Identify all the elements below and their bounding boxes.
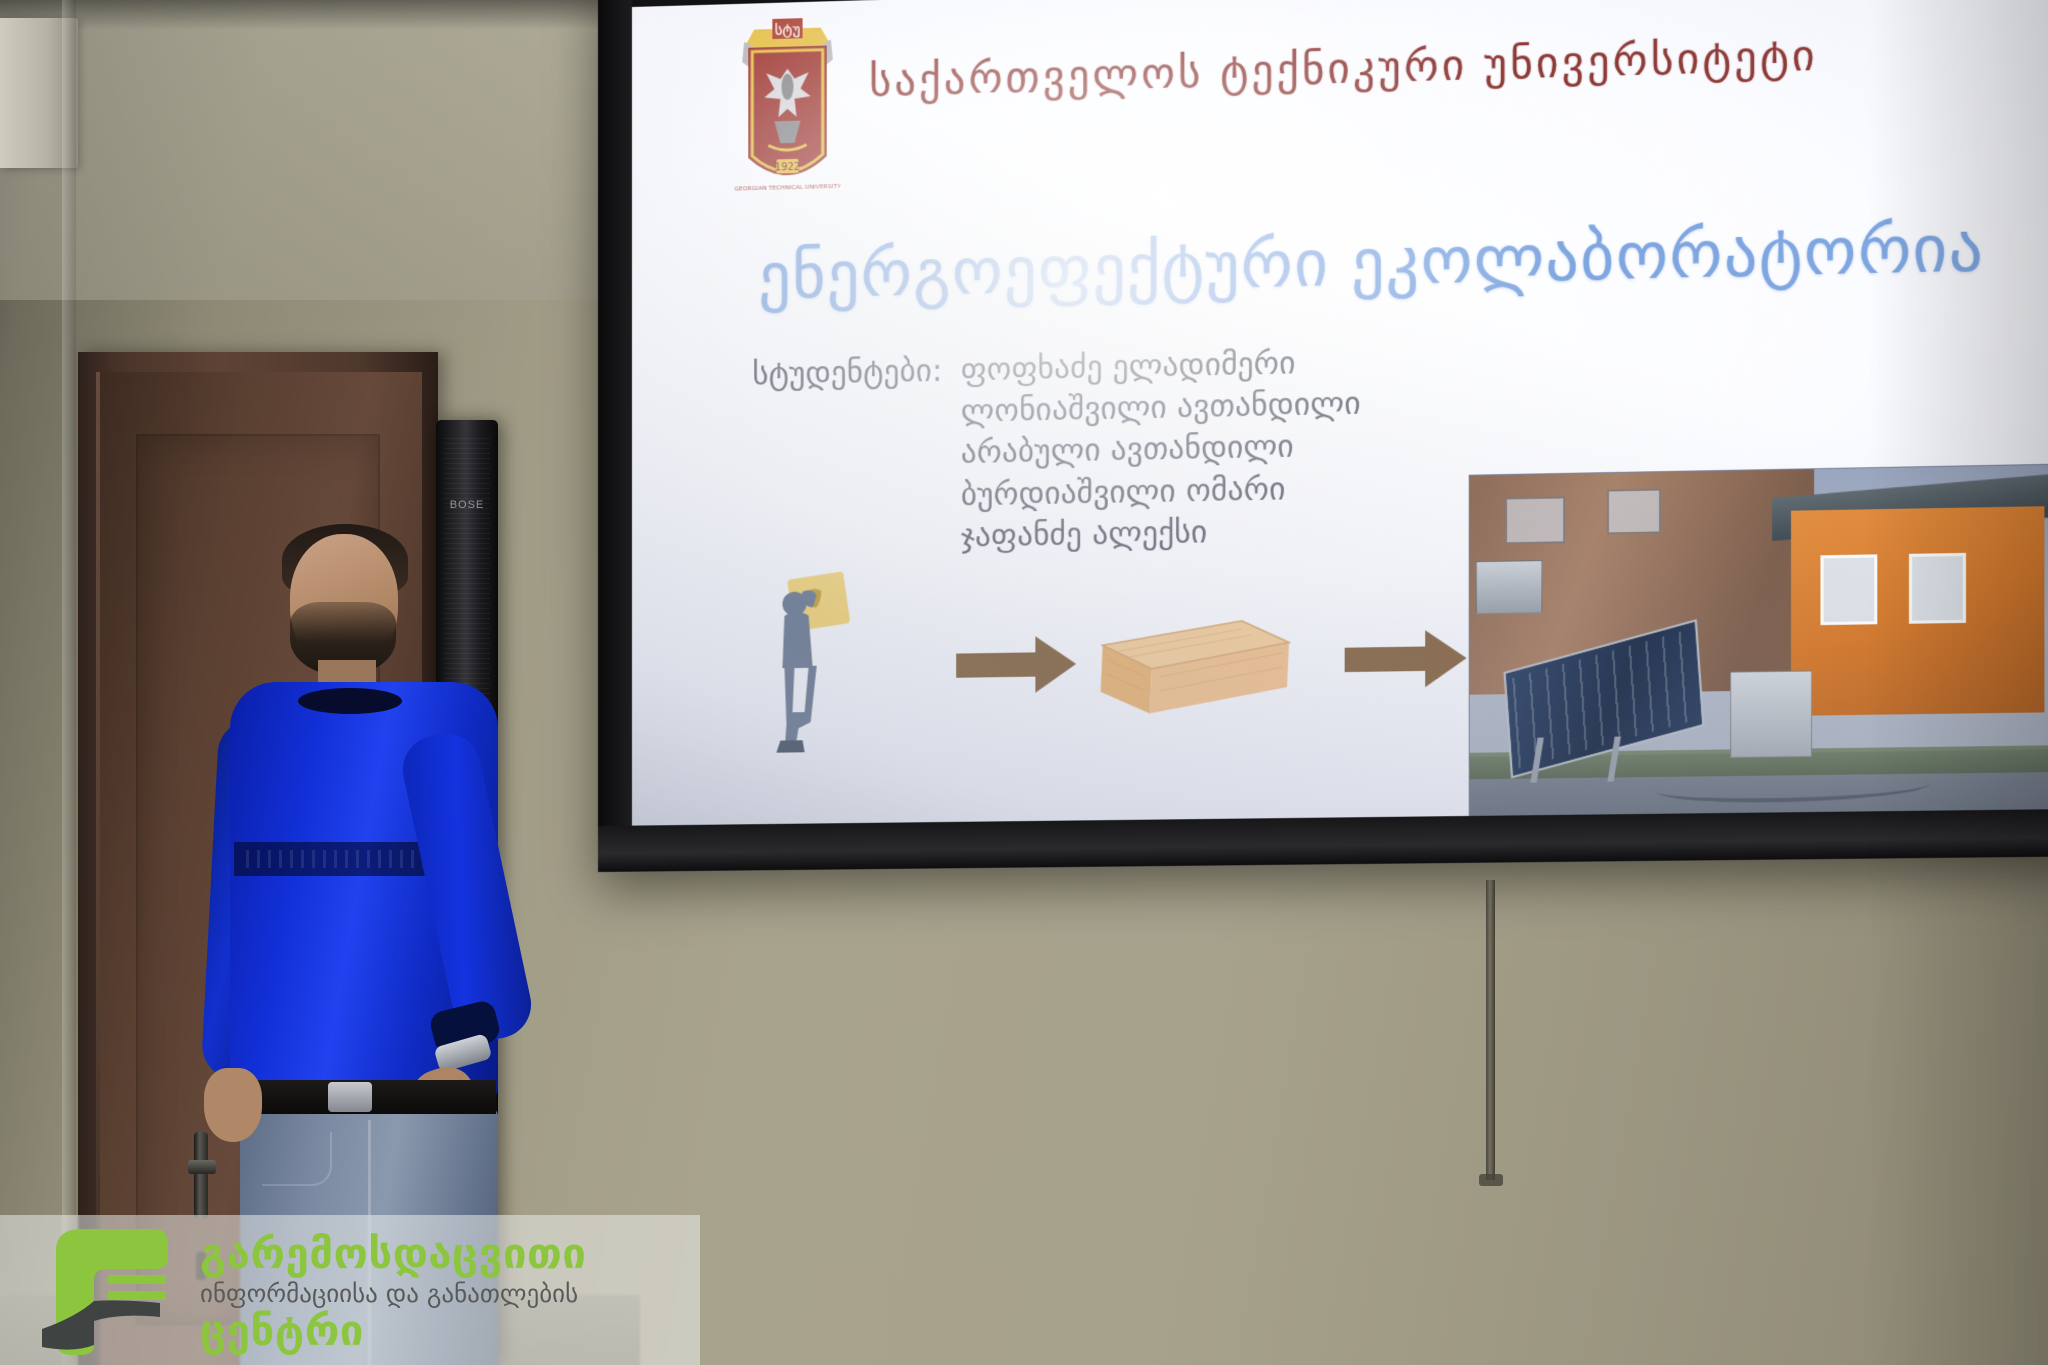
- photo-window: [1505, 496, 1565, 544]
- screen-left-border: [598, 0, 632, 872]
- photo-heat-pump-unit: [1730, 670, 1812, 757]
- person-collar: [298, 688, 402, 714]
- right-wall-shadow: [1868, 0, 2048, 1365]
- jeans-pocket: [262, 1132, 332, 1186]
- list-item: ლონიაშვილი ავთანდილი: [961, 383, 1361, 433]
- logo-line-3: ცენტრი: [200, 1309, 680, 1353]
- list-item: ბურდიაშვილი ომარი: [961, 467, 1361, 516]
- screen-support-pole: [1486, 880, 1495, 1180]
- person-left-hand: [204, 1068, 262, 1142]
- logo-watermark-band: გარემოსდაცვითი ინფორმაციისა და განათლები…: [0, 1215, 700, 1365]
- screen-pole-base: [1479, 1174, 1503, 1186]
- photo-solar-collector-stand: [1530, 737, 1621, 783]
- projection-screen: სტუ 1922 GEORGIAN TECHNICAL UNIVERSITY: [598, 0, 2048, 872]
- logo-line-2: ინფორმაციისა და განათლების: [200, 1278, 680, 1309]
- person-carrying-block-icon: [754, 568, 875, 761]
- logo-text-block: გარემოსდაცვითი ინფორმაციისა და განათლები…: [200, 1233, 680, 1353]
- wall-upper-panel: [0, 0, 640, 300]
- belt-buckle: [328, 1082, 372, 1112]
- arrow-right-icon: [1345, 628, 1469, 695]
- speaker-brand-label: BOSE: [448, 498, 486, 512]
- students-list: ფოფხაძე ელადიმერი ლონიაშვილი ავთანდილი ა…: [961, 342, 1361, 558]
- gtu-coat-of-arms-icon: სტუ 1922 GEORGIAN TECHNICAL UNIVERSITY: [724, 15, 851, 205]
- wall-corner-edge: [62, 0, 76, 1365]
- arrow-right-icon: [956, 634, 1078, 700]
- slide-title: ენერგოეფექტური ეკოლაბორატორია: [758, 211, 1984, 315]
- slide-institution-header: საქართველოს ტექნიკური უნივერსიტეტი: [869, 30, 1818, 106]
- svg-text:1922: 1922: [775, 162, 801, 174]
- screen-surface: სტუ 1922 GEORGIAN TECHNICAL UNIVERSITY: [632, 0, 2048, 826]
- presentation-slide: სტუ 1922 GEORGIAN TECHNICAL UNIVERSITY: [632, 0, 2048, 826]
- process-diagram: [754, 527, 2048, 825]
- svg-text:სტუ: სტუ: [775, 20, 801, 39]
- lecture-room-scene: BOSE სტუ: [0, 0, 2048, 1365]
- students-block: სტუდენტები: ფოფხაძე ელადიმერი ლონიაშვილი…: [752, 342, 1360, 562]
- svg-text:GEORGIAN TECHNICAL UNIVERSITY: GEORGIAN TECHNICAL UNIVERSITY: [734, 183, 841, 193]
- logo-line-1: გარემოსდაცვითი: [200, 1233, 680, 1276]
- students-label: სტუდენტები:: [752, 351, 942, 562]
- straw-brick-block-image: [1088, 604, 1293, 729]
- photo-ac-unit: [1476, 560, 1542, 614]
- environmental-center-logo-icon: [42, 1225, 182, 1357]
- photo-window: [1607, 488, 1661, 534]
